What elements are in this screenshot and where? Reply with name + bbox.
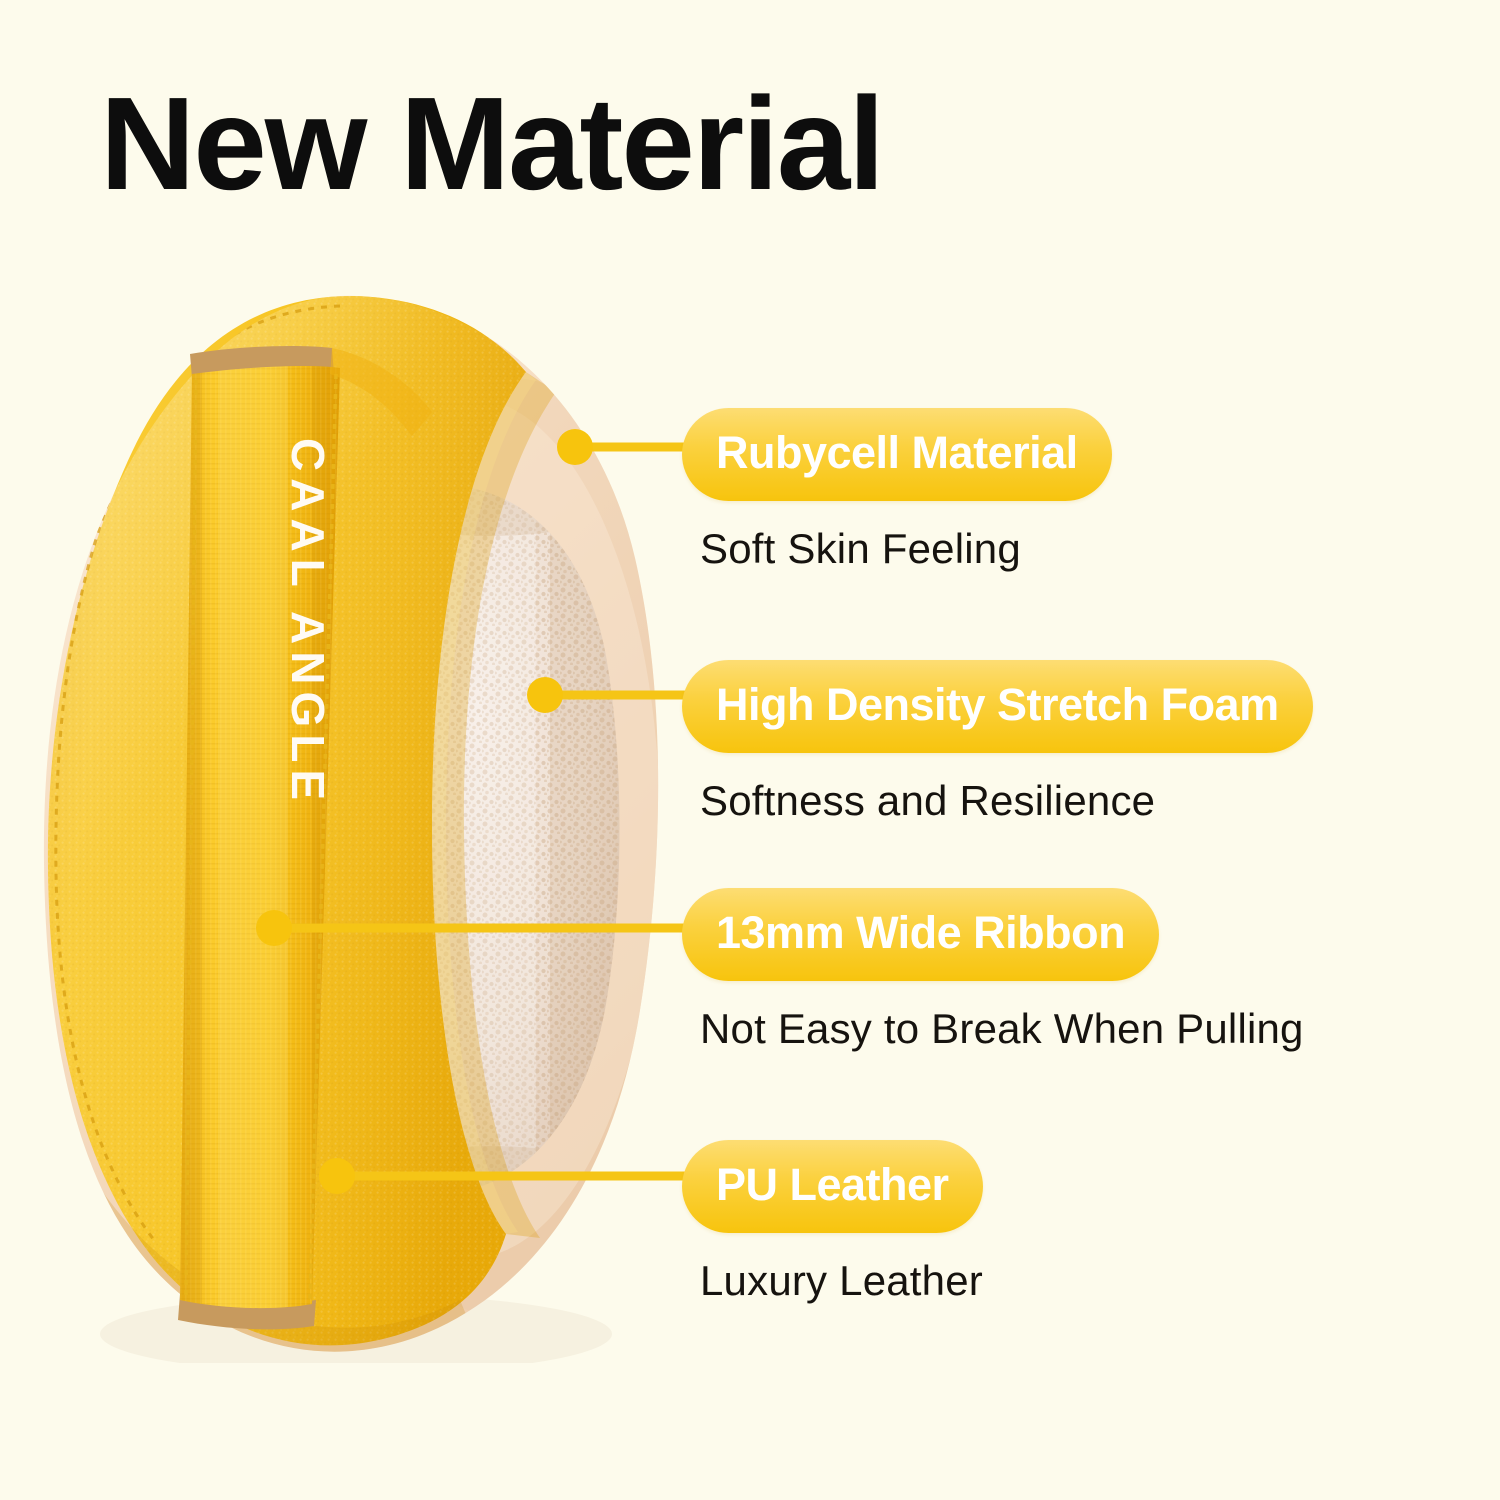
callout-subtitle-rubycell-material: Soft Skin Feeling: [700, 525, 1112, 573]
callout-label-13mm-wide-ribbon: 13mm Wide Ribbon: [682, 888, 1159, 981]
callout-pu-leather: PU Leather Luxury Leather: [682, 1140, 983, 1305]
callout-rubycell-material: Rubycell Material Soft Skin Feeling: [682, 408, 1112, 573]
callout-label-rubycell-material: Rubycell Material: [682, 408, 1112, 501]
callout-subtitle-pu-leather: Luxury Leather: [700, 1257, 983, 1305]
callout-high-density-stretch-foam: High Density Stretch Foam Softness and R…: [682, 660, 1313, 825]
page-title: New Material: [100, 78, 883, 210]
callout-label-pu-leather: PU Leather: [682, 1140, 983, 1233]
callout-subtitle-high-density-stretch-foam: Softness and Resilience: [700, 777, 1313, 825]
callout-label-high-density-stretch-foam: High Density Stretch Foam: [682, 660, 1313, 753]
callout-13mm-wide-ribbon: 13mm Wide Ribbon Not Easy to Break When …: [682, 888, 1304, 1053]
product-image: CAAL ANGLE: [40, 288, 680, 1363]
callout-subtitle-13mm-wide-ribbon: Not Easy to Break When Pulling: [700, 1005, 1304, 1053]
infographic-canvas: New Material: [0, 0, 1500, 1500]
ribbon-brand-text: CAAL ANGLE: [282, 438, 334, 807]
